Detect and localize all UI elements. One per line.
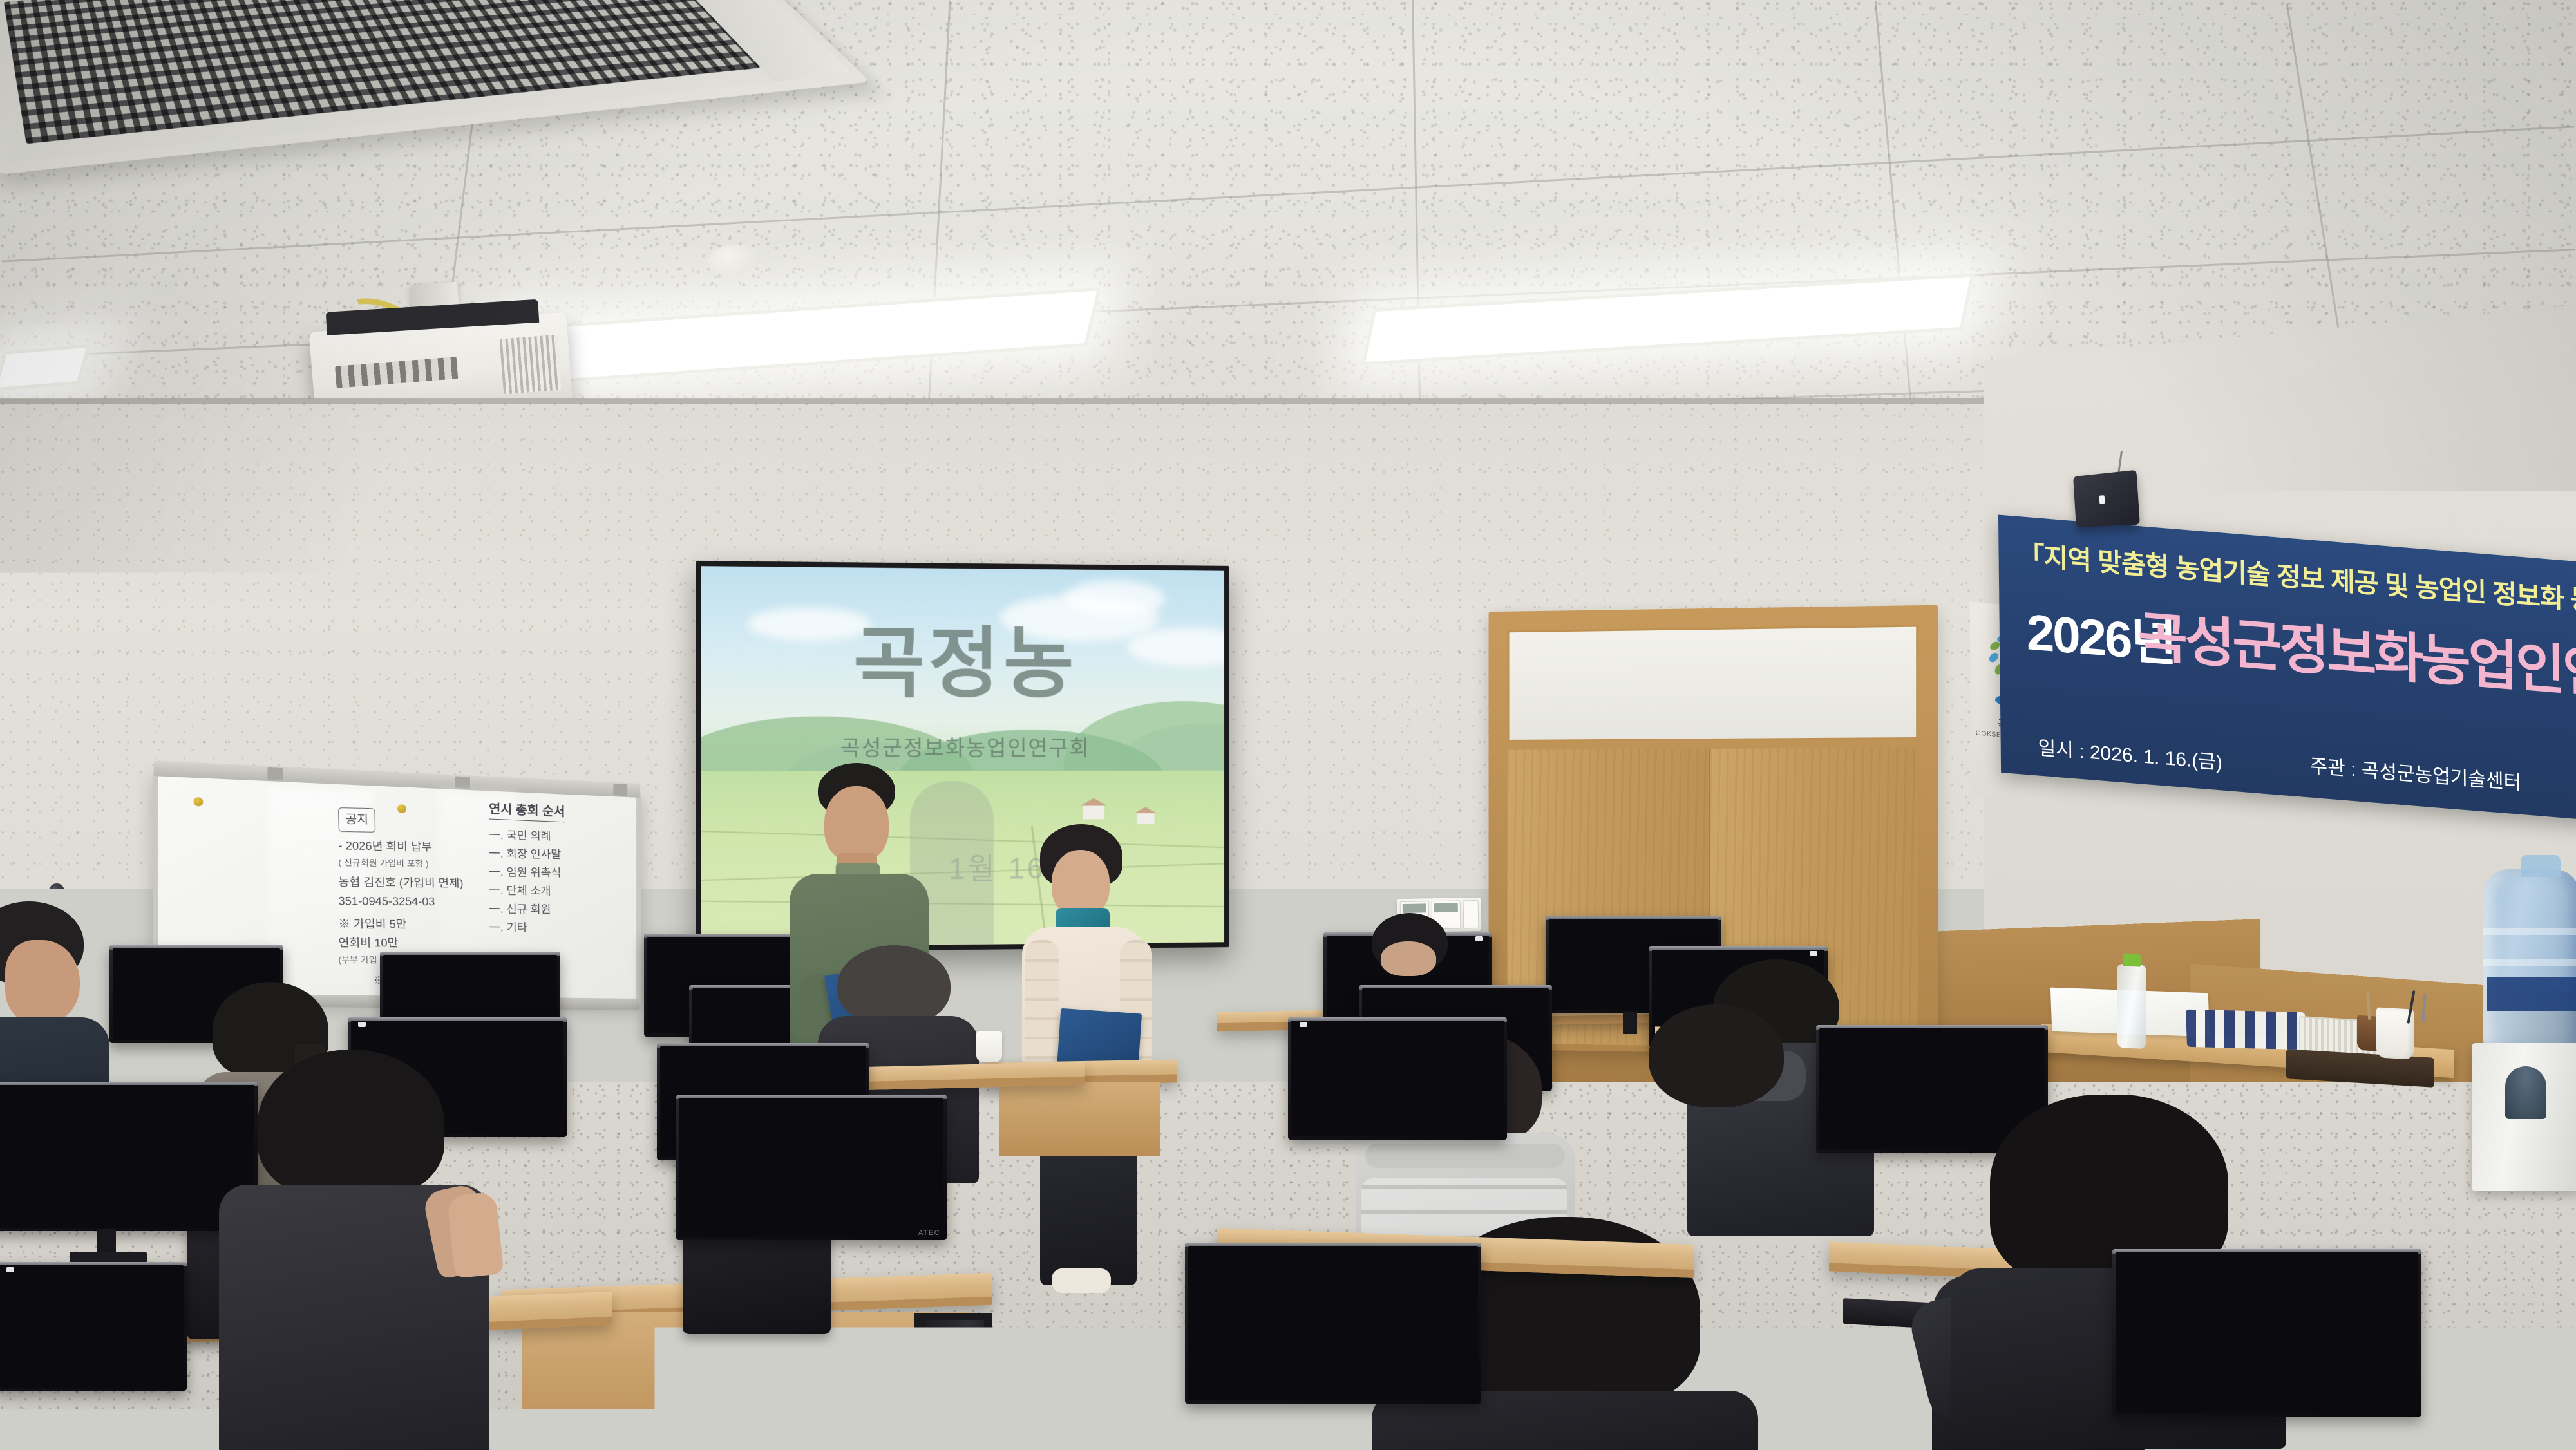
whiteboard-agenda-item: 一. 기타 xyxy=(489,919,645,937)
whiteboard-account-number: 351-0945-3254-03 xyxy=(338,892,496,912)
hair xyxy=(1649,1004,1784,1107)
whiteboard-notice-column: 공지 - 2026년 회비 납부 ( 신규회원 가입비 포함 ) 농협 김진호 … xyxy=(338,806,495,969)
monitor-screen xyxy=(1188,1246,1478,1400)
whiteboard-agenda-item: 一. 국민 의례 xyxy=(489,826,645,847)
whiteboard-notice-line: ※ 가입비 5만 xyxy=(338,915,496,934)
pc-tower: ATEC xyxy=(926,1320,984,1442)
whiteboard-notice-line: - 2026년 회비 납부 xyxy=(338,836,496,858)
controller-lcd xyxy=(1403,903,1426,913)
presenter-head xyxy=(824,786,889,862)
slide-title: 곡정농 xyxy=(701,623,1224,703)
logo-leaf xyxy=(1987,651,2000,664)
banner-host: 주관 : 곡성군농업기술센터 xyxy=(2309,750,2521,796)
hair xyxy=(258,1050,444,1198)
whiteboard-clip xyxy=(267,767,283,780)
banner-main-title: 곡성군정보화농업인연구회 xyxy=(2137,593,2576,717)
pc-optical-bay[interactable] xyxy=(930,1332,966,1337)
door-transom-window xyxy=(1508,625,1918,742)
monitor-indicator xyxy=(358,1022,366,1027)
monitor-brand-label: ATEC xyxy=(918,1229,940,1237)
paper-cup[interactable] xyxy=(976,1031,1002,1062)
watermark-line-1: 네이버 검색창에 장구호 검색♡ xyxy=(2007,1259,2544,1321)
monitor-stand xyxy=(97,1229,116,1254)
microphone-icon[interactable] xyxy=(49,883,64,899)
coffee-stick-sachets[interactable] xyxy=(2186,1010,2306,1050)
projector-vent xyxy=(499,335,561,395)
whiteboard-notice-header: 공지 xyxy=(338,807,375,832)
recipient-head xyxy=(1052,850,1110,917)
water-bottle-neck xyxy=(2521,855,2561,877)
water-bottle-label xyxy=(2487,977,2576,1011)
whiteboard-agenda-item: 一. 임원 위촉식 xyxy=(489,863,645,883)
monitor-screen xyxy=(0,1085,254,1228)
whiteboard-notice-line: 농협 김진호 (가입비 면제) xyxy=(338,873,496,893)
monitor-indicator xyxy=(6,1267,14,1272)
whiteboard-agenda-header: 연시 총회 순서 xyxy=(489,799,645,826)
monitor-screen xyxy=(0,1265,184,1388)
whiteboard-notice-line: 연회비 10만 xyxy=(338,934,496,953)
clapping-hand-right xyxy=(447,1191,504,1278)
recipient-shoe xyxy=(1052,1268,1111,1293)
whiteboard-agenda-item: 一. 단체 소개 xyxy=(489,882,645,901)
monitor-indicator xyxy=(1475,936,1483,941)
monitor-screen xyxy=(679,1098,943,1237)
water-cooler[interactable] xyxy=(2472,869,2576,1191)
puffer-hood xyxy=(1365,1144,1565,1168)
pc-brand-label: ATEC xyxy=(931,1432,949,1438)
controller-lcd xyxy=(1434,903,1458,912)
projection-screen: 곡정농 곡성군정보화농업인연구회 1월 16일 xyxy=(696,561,1229,952)
water-cooler-body[interactable] xyxy=(2472,1043,2576,1191)
whiteboard-clip xyxy=(613,784,627,796)
wall-speaker-icon xyxy=(2073,470,2140,527)
hair-gray xyxy=(837,945,951,1026)
monitor-screen xyxy=(1137,930,1304,1021)
light-switch[interactable] xyxy=(1463,900,1479,928)
photograph-canvas: 공지 - 2026년 회비 납부 ( 신규회원 가입비 포함 ) 농협 김진호 … xyxy=(0,0,2576,1450)
banner-date: 일시 : 2026. 1. 16.(금) xyxy=(2038,732,2222,775)
pc-power-led xyxy=(934,1350,938,1354)
head xyxy=(1381,941,1436,976)
projector-ports xyxy=(335,357,459,388)
water-tap-icon[interactable] xyxy=(2505,1066,2546,1119)
bottle-ring xyxy=(2483,959,2576,966)
speaker-led-indicator xyxy=(2099,495,2105,504)
whiteboard-notice-line: ( 신규회원 가입비 포함 ) xyxy=(338,855,496,871)
front-small-desk-side xyxy=(999,1082,1160,1156)
watermark-timestamp: 2026. 01. 16. 오전 10:45 xyxy=(2043,1332,2544,1399)
whiteboard-agenda-column: 연시 총회 순서 一. 국민 의례 一. 회장 인사말 一. 임원 위촉식 一.… xyxy=(489,799,645,939)
event-banner: 「지역 맞춤형 농업기술 정보 제공 및 농업인 정보화 능력 향상 2026년… xyxy=(1998,515,2576,825)
monitor-front-3: ATEC xyxy=(676,1095,947,1240)
monitor-indicator xyxy=(1810,951,1817,956)
whiteboard-magnet xyxy=(194,797,204,807)
slide-house xyxy=(1137,813,1154,824)
monitor-screen xyxy=(1291,1021,1504,1136)
water-bottle xyxy=(2483,869,2576,1050)
monitor-stand xyxy=(1623,1012,1637,1034)
head-profile xyxy=(5,940,80,1024)
bottle-ring xyxy=(2483,928,2576,935)
slide-house xyxy=(1083,805,1104,819)
monitor-front-4 xyxy=(1185,1243,1481,1404)
whiteboard-agenda-item: 一. 회장 인사말 xyxy=(489,845,645,865)
whiteboard-agenda-item: 一. 신규 회원 xyxy=(489,900,645,919)
monitor-front-2 xyxy=(0,1262,187,1391)
monitor-back-5 xyxy=(1133,927,1307,1024)
monitor-right-mid-2 xyxy=(1288,1017,1507,1140)
water-bottle-small[interactable] xyxy=(2117,964,2146,1049)
bottle-cap xyxy=(2123,953,2141,966)
whiteboard-clip xyxy=(455,777,470,789)
projected-slide: 곡정농 곡성군정보화농업인연구회 1월 16일 xyxy=(701,566,1224,947)
slide-subtitle: 곡성군정보화농업인연구회 xyxy=(701,730,1224,762)
